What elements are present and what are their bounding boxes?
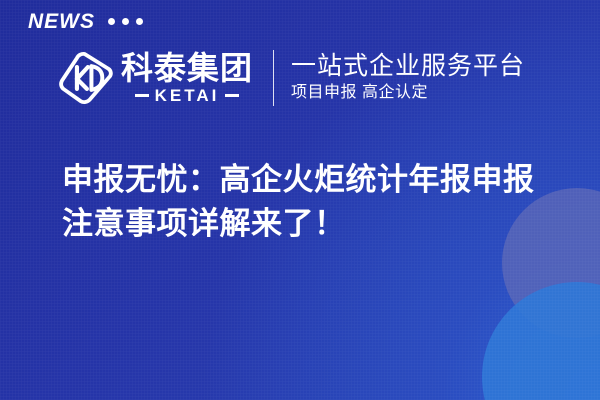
brand-divider [273,50,274,106]
decorative-circle-bright-blue [482,282,600,400]
brand-name-block: 科泰集团 KETAI [121,52,253,104]
brand-name-cn: 科泰集团 [121,52,253,86]
headline: 申报无忧：高企火炬统计年报申报 注意事项详解来了！ [62,158,567,246]
news-dots-icon [108,18,143,25]
brand-rule-left [135,94,149,97]
headline-line-1: 申报无忧：高企火炬统计年报申报 [62,158,567,202]
ketai-diamond-kd-logo-icon [57,49,115,107]
brand-header: 科泰集团 KETAI 一站式企业服务平台 项目申报 高企认定 [57,44,525,112]
tagline-block: 一站式企业服务平台 项目申报 高企认定 [291,52,525,105]
brand-rule-right [225,94,239,97]
tagline-main: 一站式企业服务平台 [291,52,525,81]
brand-name-en-row: KETAI [121,87,253,104]
news-badge: NEWS [28,11,143,32]
brand-name-en: KETAI [155,87,220,104]
news-label: NEWS [28,11,95,32]
tagline-sub: 项目申报 高企认定 [291,83,525,104]
news-banner: NEWS 科泰集团 KETAI [0,0,600,400]
headline-line-2: 注意事项详解来了！ [62,202,567,246]
